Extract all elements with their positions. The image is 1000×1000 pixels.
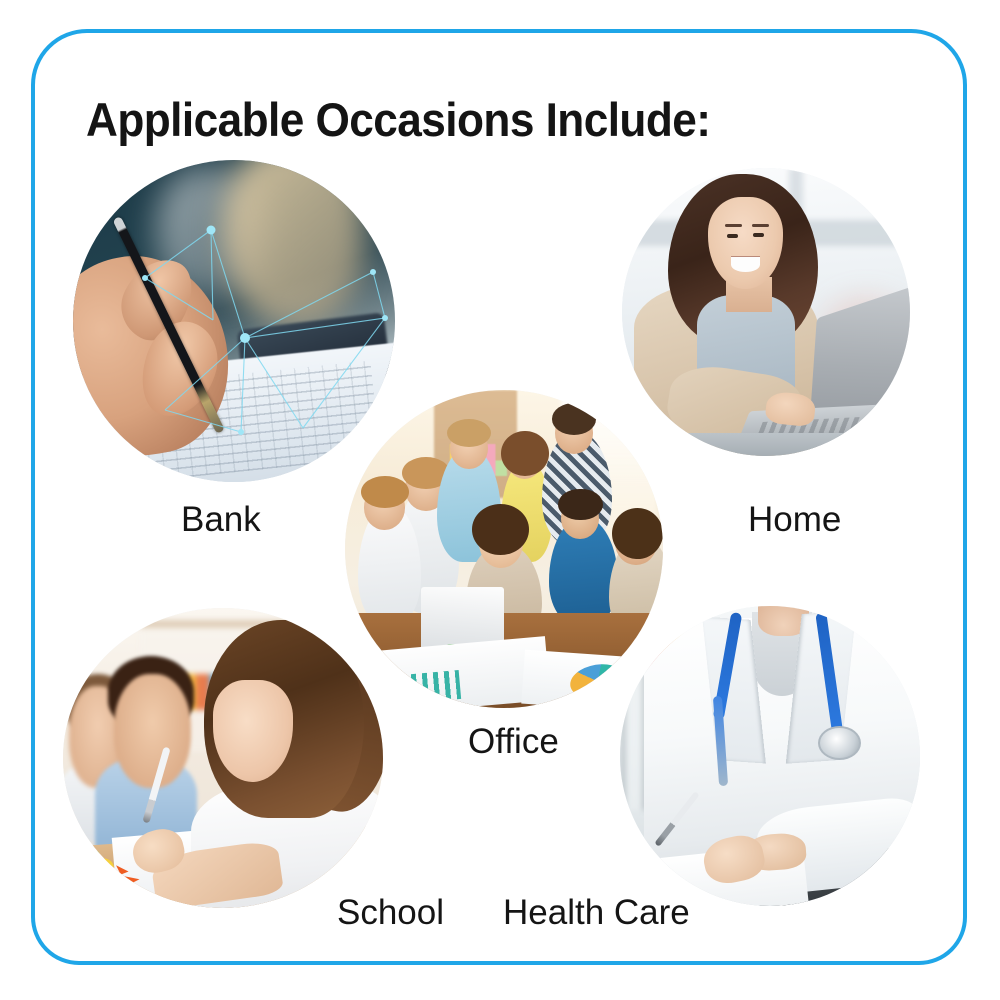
person-left-seated-hair bbox=[361, 476, 409, 508]
eye-right bbox=[753, 233, 764, 237]
occasion-label-health-care: Health Care bbox=[503, 893, 690, 933]
school-scene bbox=[63, 608, 383, 908]
occasion-image-home bbox=[622, 168, 910, 456]
occasion-label-office: Office bbox=[468, 722, 559, 762]
office-scene bbox=[345, 390, 663, 708]
person-light-blue-hair bbox=[447, 419, 492, 448]
stethoscope-chestpiece-icon bbox=[818, 726, 861, 760]
eyebrow-left bbox=[725, 224, 742, 227]
eye-left bbox=[727, 234, 738, 238]
occasion-image-school bbox=[63, 608, 383, 908]
desk-surface bbox=[622, 433, 910, 456]
clay-letters bbox=[76, 848, 159, 884]
occasion-label-school: School bbox=[337, 893, 444, 933]
occasion-label-home: Home bbox=[748, 500, 841, 540]
person-blue-sweater-hair bbox=[558, 489, 603, 521]
person-yellow-top-hair bbox=[501, 431, 549, 476]
home-scene bbox=[622, 168, 910, 456]
bar-chart-printout bbox=[388, 670, 460, 705]
occasion-image-health-care bbox=[620, 606, 920, 906]
smile-shape bbox=[731, 257, 760, 271]
occasion-label-bank: Bank bbox=[181, 500, 261, 540]
promo-banner: Applicable Occasions Include: bbox=[0, 0, 1000, 1000]
person-right-hair bbox=[612, 508, 663, 559]
page-title: Applicable Occasions Include: bbox=[86, 92, 710, 147]
occasion-image-office bbox=[345, 390, 663, 708]
eyebrow-right bbox=[752, 224, 769, 227]
person-plaid-hair bbox=[552, 403, 597, 435]
health-care-scene bbox=[620, 606, 920, 906]
child-near-face bbox=[114, 674, 191, 788]
